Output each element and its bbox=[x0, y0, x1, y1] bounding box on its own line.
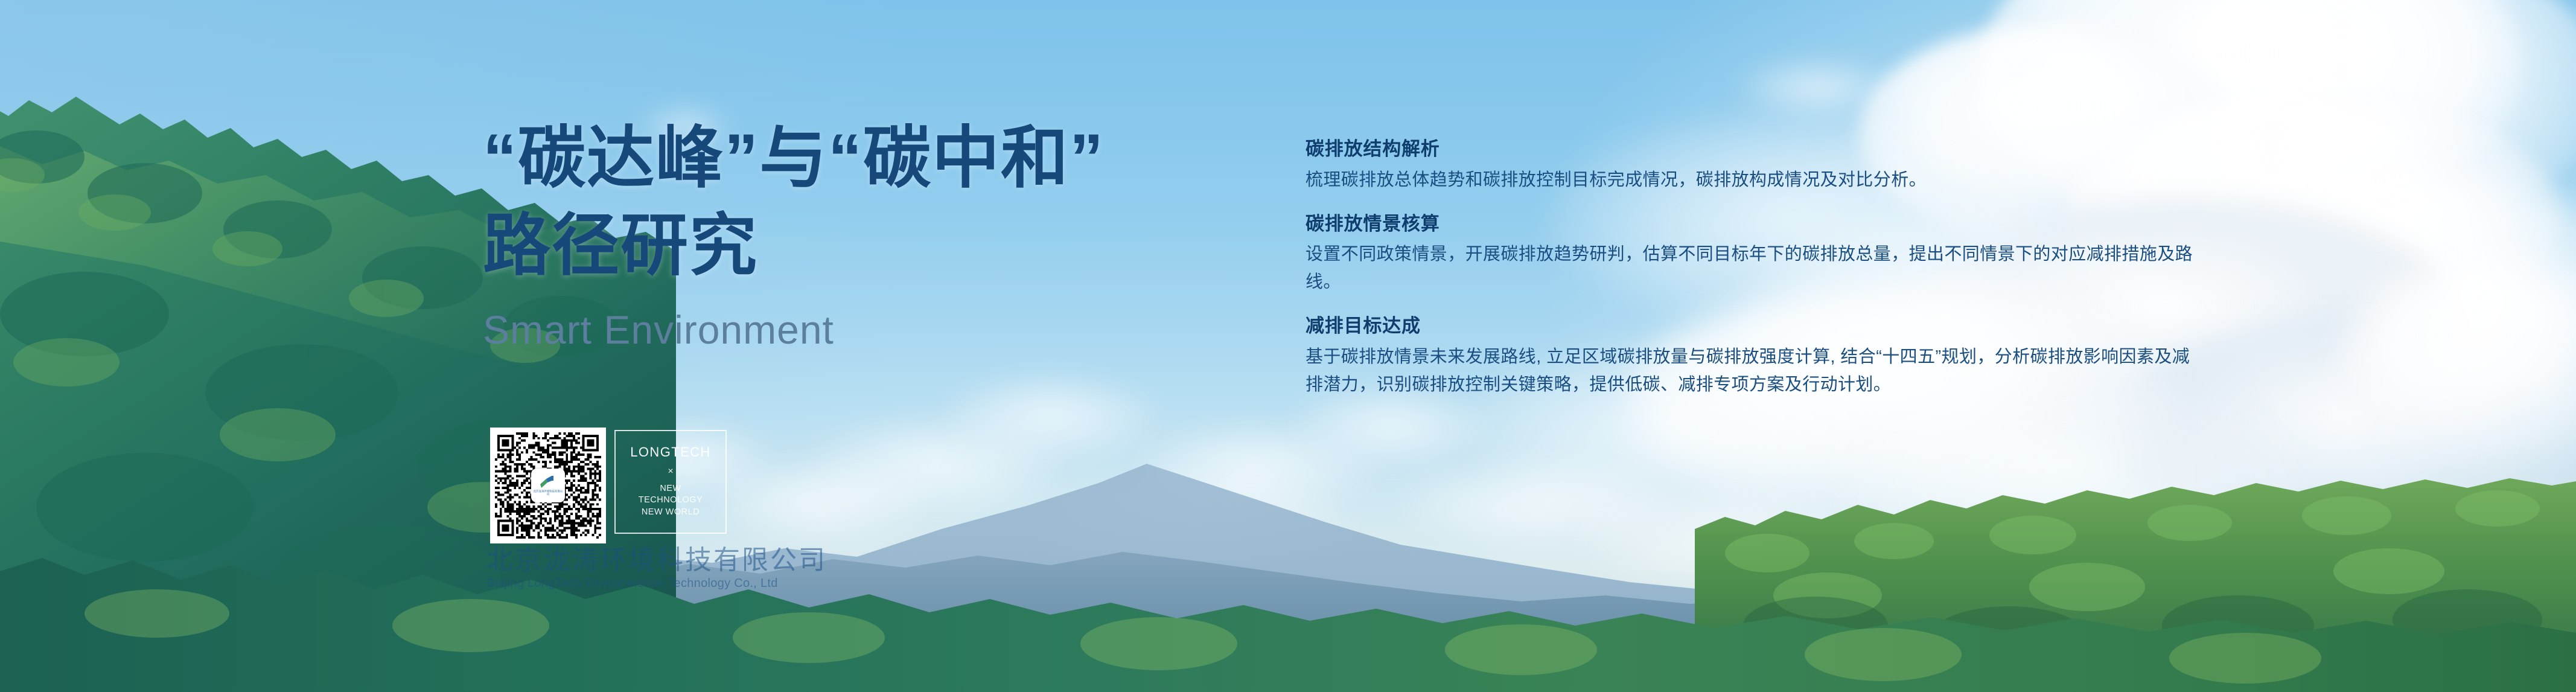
brand-card-row: 北京泷涛环境科技有限公司 LONGTECH × NEW TECHNOLOGY N… bbox=[490, 428, 727, 543]
banner-stage: “碳达峰”与“碳中和” 路径研究 Smart Environment 北京泷涛环… bbox=[0, 0, 2576, 692]
section-body: 设置不同政策情景，开展碳排放趋势研判，估算不同目标年下的碳排放总量，提出不同情景… bbox=[1306, 241, 2199, 296]
brand-tagline-line-3: NEW WORLD bbox=[639, 507, 703, 518]
company-name-cn: 北京泷涛环境科技有限公司 bbox=[486, 546, 827, 575]
sections-list: 碳排放结构解析 梳理碳排放总体趋势和碳排放控制目标完成情况，碳排放构成情况及对比… bbox=[1306, 138, 2199, 399]
section-item: 碳排放结构解析 梳理碳排放总体趋势和碳排放控制目标完成情况，碳排放构成情况及对比… bbox=[1306, 138, 2199, 194]
headline-line-1: “碳达峰”与“碳中和” bbox=[483, 115, 1237, 201]
section-title: 碳排放情景核算 bbox=[1306, 213, 2199, 236]
qr-code-card[interactable]: 北京泷涛环境科技有限公司 bbox=[490, 428, 606, 543]
company-name-en: Beijing LongTech Environmental Technolog… bbox=[486, 577, 827, 591]
brand-tagline-line-2: TECHNOLOGY bbox=[639, 495, 703, 506]
qr-logo-caption: 北京泷涛环境科技有限公司 bbox=[532, 490, 564, 496]
section-body: 梳理碳排放总体趋势和碳排放控制目标完成情况，碳排放构成情况及对比分析。 bbox=[1306, 167, 2199, 194]
headline-line-2: 路径研究 bbox=[483, 202, 1237, 289]
brand-tagline-line-1: NEW bbox=[639, 483, 703, 495]
brand-box: LONGTECH × NEW TECHNOLOGY NEW WORLD bbox=[614, 430, 727, 534]
company-block: 北京泷涛环境科技有限公司 Beijing LongTech Environmen… bbox=[486, 546, 827, 591]
section-title: 减排目标达成 bbox=[1306, 315, 2199, 338]
brand-name: LONGTECH bbox=[630, 446, 710, 459]
section-title: 碳排放结构解析 bbox=[1306, 138, 2199, 161]
brand-tagline: NEW TECHNOLOGY NEW WORLD bbox=[639, 483, 703, 517]
section-item: 减排目标达成 基于碳排放情景未来发展路线, 立足区域碳排放量与碳排放强度计算, … bbox=[1306, 315, 2199, 399]
title-block: “碳达峰”与“碳中和” 路径研究 Smart Environment bbox=[483, 115, 1237, 350]
subtitle: Smart Environment bbox=[483, 310, 1237, 350]
section-item: 碳排放情景核算 设置不同政策情景，开展碳排放趋势研判，估算不同目标年下的碳排放总… bbox=[1306, 213, 2199, 296]
section-body: 基于碳排放情景未来发展路线, 立足区域碳排放量与碳排放强度计算, 结合“十四五”… bbox=[1306, 344, 2199, 399]
qr-center-logo: 北京泷涛环境科技有限公司 bbox=[531, 469, 565, 502]
foreground-forest bbox=[0, 547, 2576, 692]
longtech-logo-icon bbox=[538, 475, 558, 489]
brand-separator-icon: × bbox=[668, 466, 673, 477]
